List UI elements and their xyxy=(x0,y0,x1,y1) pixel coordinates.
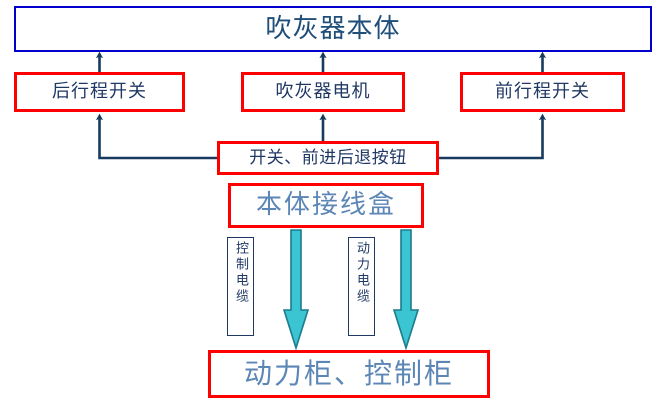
control-cable-arrow-icon xyxy=(284,230,308,348)
node-rear-limit-switch-label: 后行程开关 xyxy=(52,82,147,102)
connector-button-to-rear-switch xyxy=(100,117,218,158)
node-blower-motor-label: 吹灰器电机 xyxy=(276,82,371,102)
node-cabinet[interactable]: 动力柜、控制柜 xyxy=(208,350,490,398)
node-control-cable[interactable]: 控制电缆 xyxy=(227,237,254,336)
node-main-unit-label: 吹灰器本体 xyxy=(265,15,400,44)
blower-wiring-diagram: 吹灰器本体 后行程开关 吹灰器电机 前行程开关 开关、前进后退按钮 本体接线盒 … xyxy=(0,0,666,406)
node-rear-limit-switch[interactable]: 后行程开关 xyxy=(14,72,185,112)
node-junction-box-label: 本体接线盒 xyxy=(256,191,396,220)
node-power-cable[interactable]: 动力电缆 xyxy=(348,237,375,336)
node-blower-motor[interactable]: 吹灰器电机 xyxy=(241,72,405,112)
node-cabinet-label: 动力柜、控制柜 xyxy=(244,359,454,390)
node-front-limit-switch[interactable]: 前行程开关 xyxy=(460,72,625,112)
connector-button-to-front-switch xyxy=(439,117,543,158)
node-main-unit[interactable]: 吹灰器本体 xyxy=(14,6,652,52)
node-control-cable-label: 控制电缆 xyxy=(234,241,247,305)
node-power-cable-label: 动力电缆 xyxy=(355,241,368,305)
node-switch-button-panel[interactable]: 开关、前进后退按钮 xyxy=(217,141,439,175)
node-switch-button-panel-label: 开关、前进后退按钮 xyxy=(249,149,407,168)
power-cable-arrow-icon xyxy=(394,230,418,348)
node-front-limit-switch-label: 前行程开关 xyxy=(495,82,590,102)
node-junction-box[interactable]: 本体接线盒 xyxy=(228,183,424,228)
